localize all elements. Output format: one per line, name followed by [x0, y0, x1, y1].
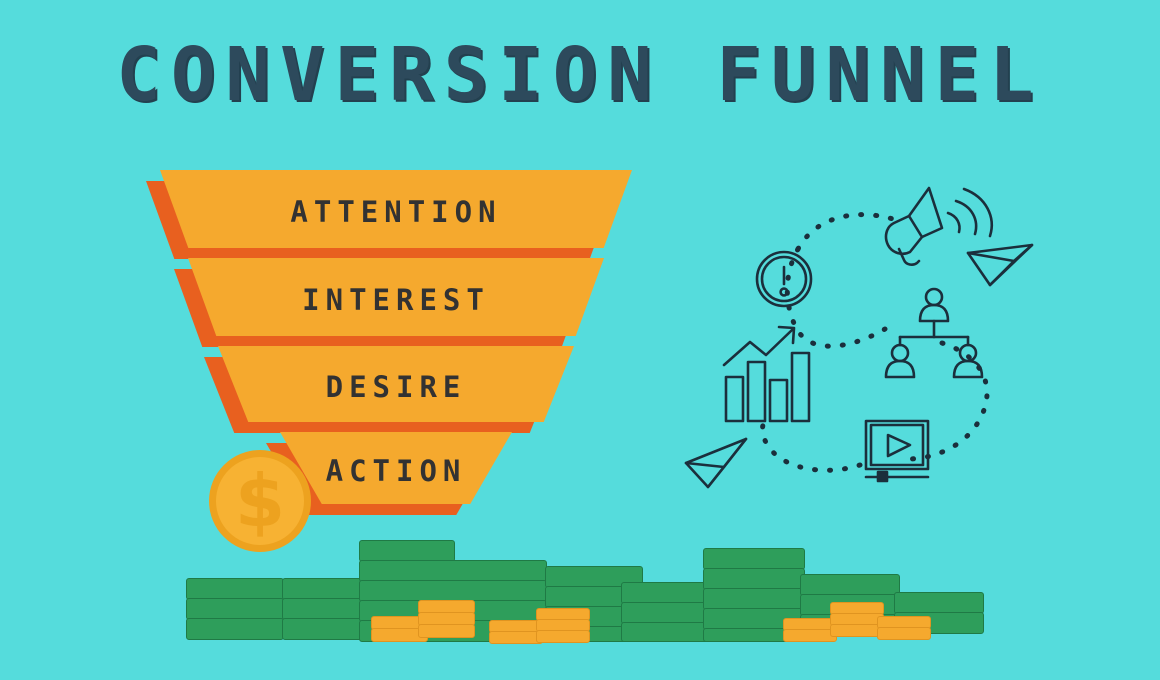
banknote-bill: [703, 588, 805, 610]
coin-stack-row: [830, 624, 884, 637]
paper-plane-outline-icon: [686, 439, 746, 487]
bar-chart-growth-icon: [724, 327, 809, 421]
funnel-stage-label: ACTION: [280, 454, 512, 488]
coin-stack-row: [489, 631, 543, 644]
money-stacks: [0, 520, 1160, 640]
funnel-stage-label: INTEREST: [188, 283, 604, 317]
dotted-path: [762, 215, 987, 471]
banknote-bill: [186, 578, 284, 600]
paper-plane-icon: [968, 245, 1032, 285]
coin-stack-row: [536, 630, 590, 643]
coin-stack-row: [418, 624, 475, 638]
funnel-stage-label: DESIRE: [218, 370, 574, 404]
banknote-bill: [894, 592, 984, 614]
funnel-diagram: ATTENTION INTEREST DESIRE ACTION: [140, 160, 640, 500]
marketing-icon-cluster: [680, 175, 1050, 505]
banknote-bill: [359, 560, 547, 582]
funnel-stage-interest[interactable]: INTEREST: [188, 258, 604, 336]
page-title: CONVERSION FUNNEL: [0, 38, 1160, 112]
alert-circle-icon: [757, 252, 811, 306]
banknote-bill: [703, 548, 805, 570]
conversion-funnel-infographic: CONVERSION FUNNEL ATTENTION INTEREST DES…: [0, 0, 1160, 680]
video-player-icon: [866, 421, 928, 481]
banknote-bill: [359, 540, 455, 562]
banknote-bill: [359, 580, 547, 602]
funnel-stage-action[interactable]: ACTION: [280, 432, 512, 504]
funnel-stage-desire[interactable]: DESIRE: [218, 346, 574, 422]
coin-stack-row: [877, 627, 931, 640]
network-people-icon: [886, 289, 982, 377]
funnel-stage-attention[interactable]: ATTENTION: [160, 170, 632, 248]
banknote-bill: [186, 618, 284, 640]
banknote-bill: [703, 568, 805, 590]
banknote-bill: [800, 574, 900, 596]
coin-stack-row: [783, 629, 837, 642]
funnel-stage-label: ATTENTION: [160, 195, 632, 229]
banknote-bill: [186, 598, 284, 620]
